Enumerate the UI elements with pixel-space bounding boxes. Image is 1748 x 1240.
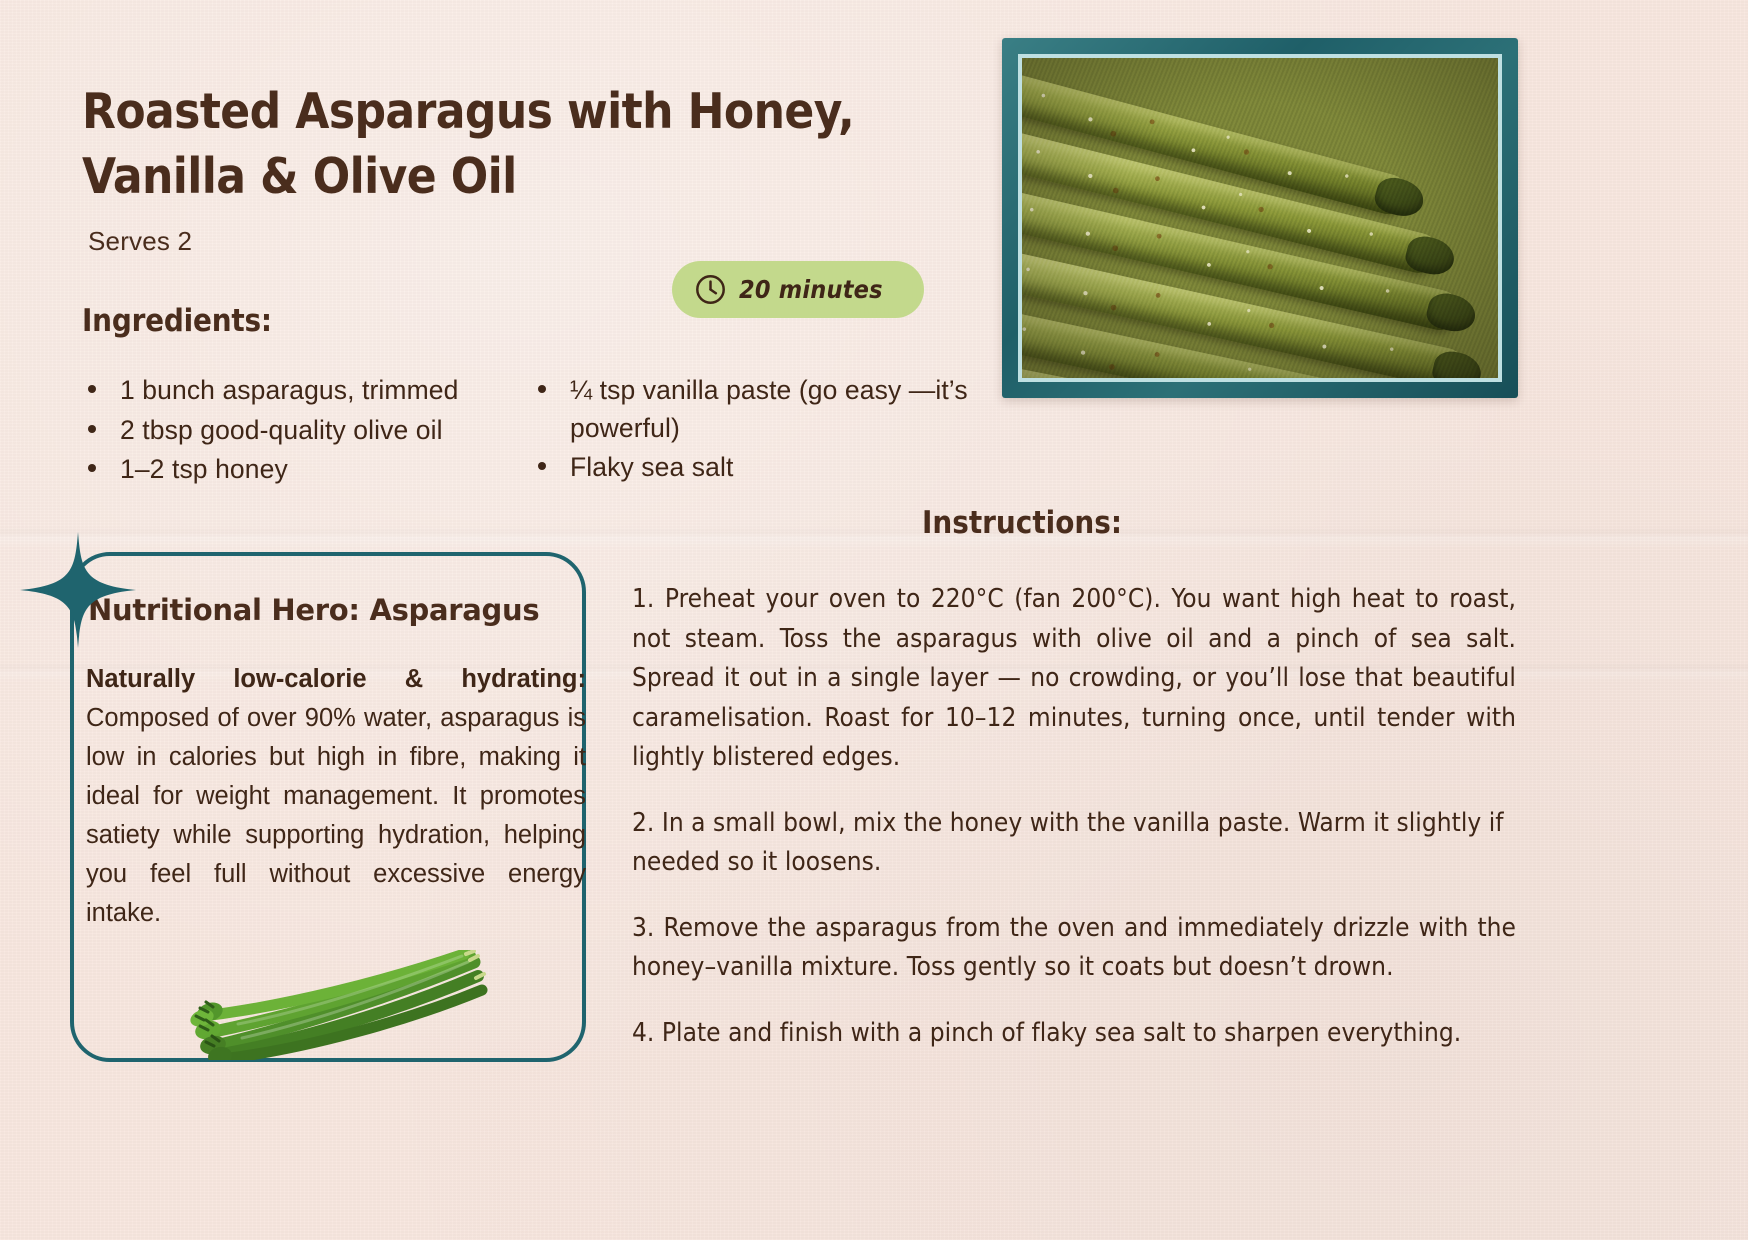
instruction-step: 1. Preheat your oven to 220°C (fan 200°C…	[632, 580, 1516, 778]
list-item: Flaky sea salt	[528, 449, 988, 487]
ingredient-text: Flaky sea salt	[570, 452, 733, 482]
bullet-icon	[538, 385, 546, 393]
cook-time-label: 20 minutes	[739, 275, 883, 304]
list-item: 1 bunch asparagus, trimmed	[78, 372, 548, 410]
clock-icon	[694, 273, 727, 306]
nutritional-hero-title: Nutritional Hero: Asparagus	[88, 593, 588, 627]
nutritional-hero-body: Naturally low-calorie & hydrating: Compo…	[86, 660, 586, 933]
instruction-step: 4. Plate and finish with a pinch of flak…	[632, 1014, 1516, 1054]
instructions-heading: Instructions:	[922, 505, 1122, 541]
list-item: ¼ tsp vanilla paste (go easy —it’s power…	[528, 372, 988, 447]
bullet-icon	[88, 464, 96, 472]
ingredients-heading: Ingredients:	[82, 303, 272, 339]
bullet-icon	[538, 462, 546, 470]
nutritional-hero-text: Composed of over 90% water, asparagus is…	[86, 704, 586, 927]
bullet-icon	[88, 385, 96, 393]
ingredient-text: 1 bunch asparagus, trimmed	[120, 375, 458, 405]
instructions-list: 1. Preheat your oven to 220°C (fan 200°C…	[632, 580, 1516, 1053]
roasted-asparagus-photo	[1018, 54, 1502, 382]
ingredients-column-right: ¼ tsp vanilla paste (go easy —it’s power…	[528, 372, 988, 489]
instruction-step: 3. Remove the asparagus from the oven an…	[632, 909, 1516, 988]
recipe-card: Roasted Asparagus with Honey, Vanilla & …	[0, 0, 1748, 1240]
list-item: 2 tbsp good-quality olive oil	[78, 412, 548, 450]
photo-vignette-overlay	[1022, 58, 1498, 378]
teal-picture-frame	[1002, 38, 1518, 398]
cook-time-badge: 20 minutes	[672, 261, 924, 318]
ingredient-text: ¼ tsp vanilla paste (go easy —it’s power…	[570, 375, 968, 443]
page-title: Roasted Asparagus with Honey, Vanilla & …	[82, 80, 1002, 209]
list-item: 1–2 tsp honey	[78, 451, 548, 489]
ingredient-text: 1–2 tsp honey	[120, 454, 288, 484]
bullet-icon	[88, 425, 96, 433]
nutritional-hero-lead: Naturally low-calorie & hydrating:	[86, 665, 586, 693]
sparkle-icon	[18, 530, 138, 650]
ingredients-column-left: 1 bunch asparagus, trimmed 2 tbsp good-q…	[78, 372, 548, 491]
serves-label: Serves 2	[88, 226, 192, 257]
asparagus-bunch-illustration	[182, 950, 492, 1060]
instruction-step: 2. In a small bowl, mix the honey with t…	[632, 804, 1516, 883]
ingredient-text: 2 tbsp good-quality olive oil	[120, 415, 443, 445]
